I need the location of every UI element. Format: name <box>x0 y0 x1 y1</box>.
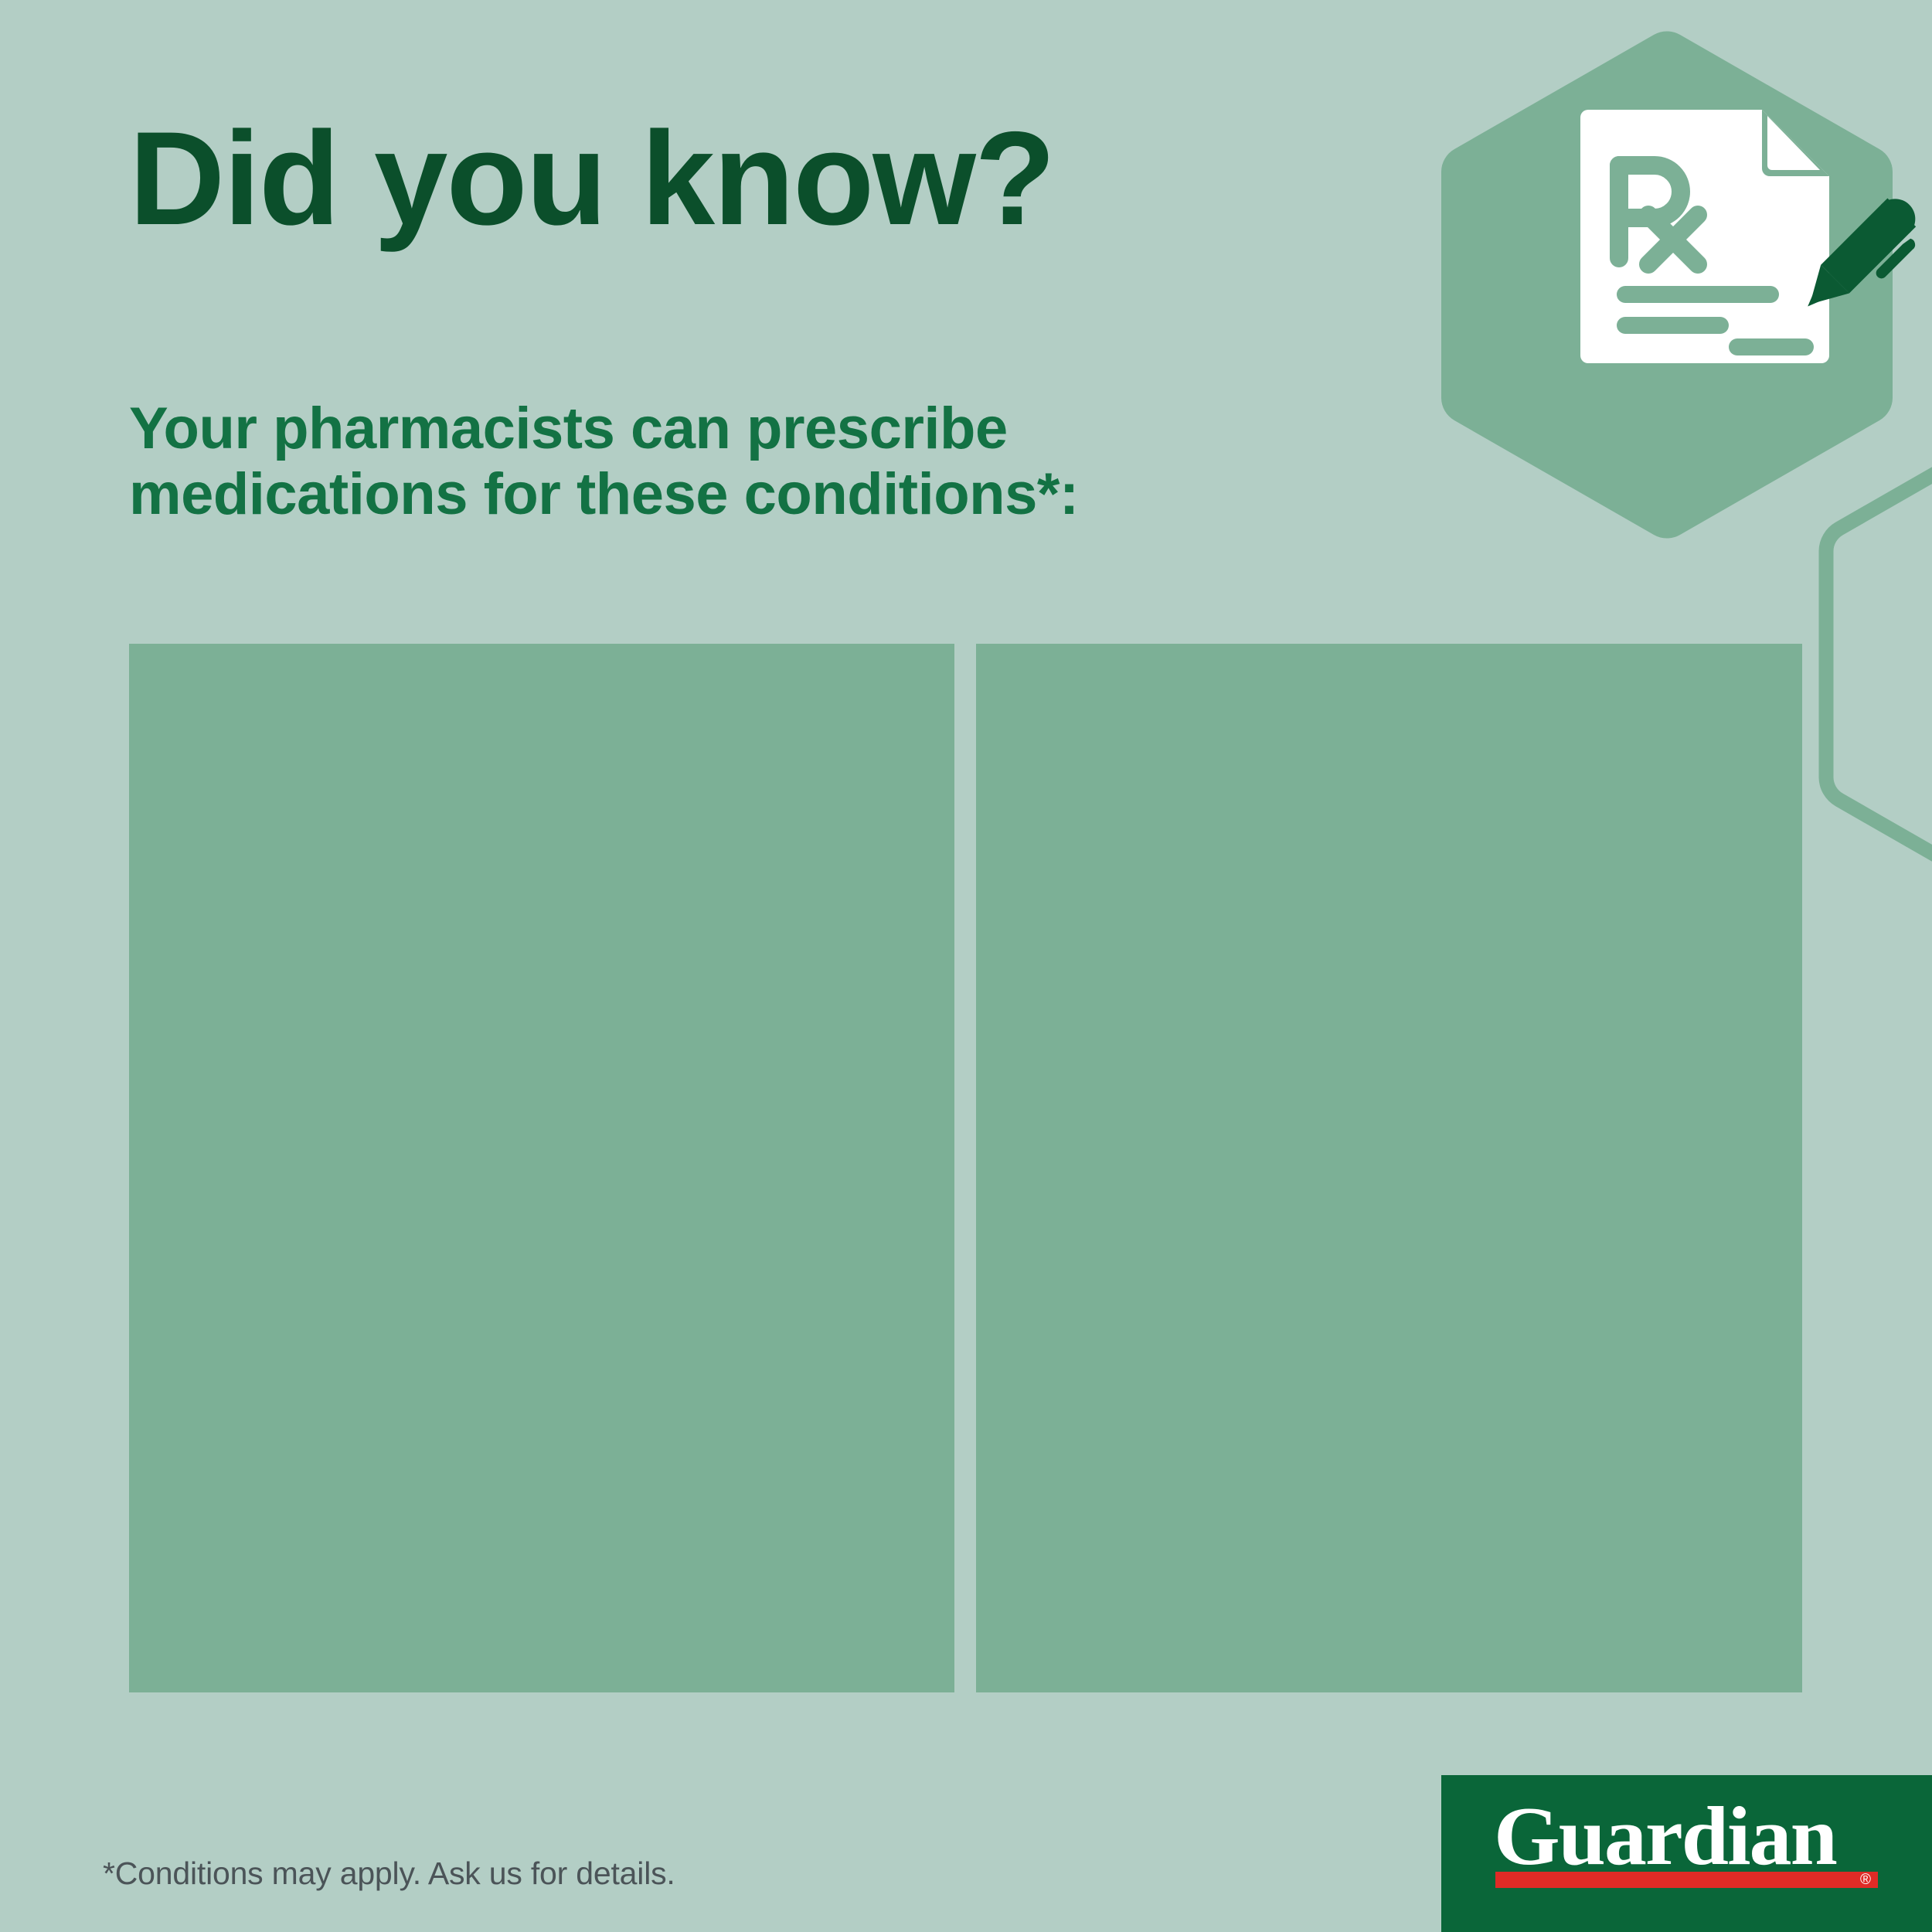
conditions-panel-left-content <box>129 644 954 1692</box>
document-line-3 <box>1729 338 1814 355</box>
guardian-red-rule: ® <box>1495 1872 1878 1888</box>
registered-trademark-icon: ® <box>1860 1872 1871 1888</box>
document-line-1 <box>1617 286 1779 303</box>
conditions-panel-left <box>129 644 954 1692</box>
page-title: Did you know? <box>129 112 1288 245</box>
pen-icon <box>1777 178 1932 332</box>
document-line-2 <box>1617 317 1729 334</box>
page-subtitle: Your pharmacists can prescribe medicatio… <box>129 396 1257 527</box>
conditions-panel-right-content <box>976 644 1802 1692</box>
poster-canvas: Did you know? Your pharmacists can presc… <box>0 0 1932 1932</box>
hexagon-outline-decoration <box>1826 410 1932 917</box>
conditions-panel-right <box>976 644 1802 1692</box>
guardian-logo: Guardian ® <box>1441 1775 1932 1932</box>
footnote-disclaimer: *Conditions may apply. Ask us for detail… <box>103 1855 675 1893</box>
guardian-wordmark: Guardian <box>1494 1797 1888 1877</box>
